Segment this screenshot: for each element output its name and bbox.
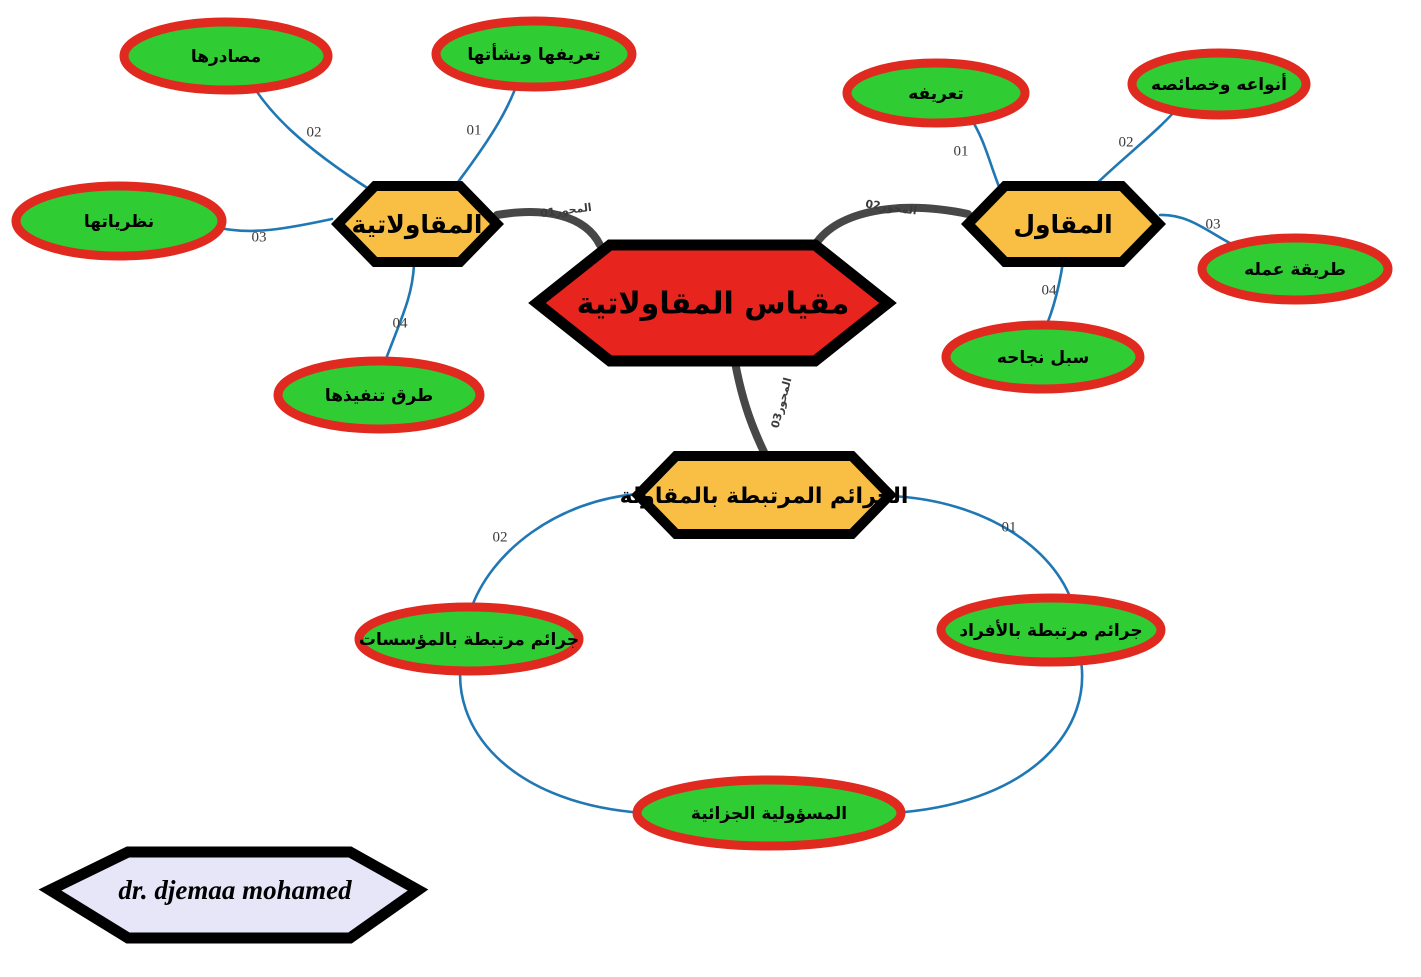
leaf-label: طريقة عمله xyxy=(1244,260,1346,280)
branch-node-1[interactable]: المقاولاتية xyxy=(338,186,497,262)
leaf-node-b2-02[interactable]: أنواعه وخصائصه xyxy=(1132,53,1306,115)
mindmap-canvas: المحور01 المحور02 المحور03 01 02 03 04 0… xyxy=(0,0,1421,977)
leaf-num-b2-02: 02 xyxy=(1119,134,1134,150)
leaf-label: طرق تنفيذها xyxy=(325,386,433,406)
leaf-num-b2-03: 03 xyxy=(1206,216,1221,232)
leaf-node-b1-01[interactable]: تعريفها ونشأتها xyxy=(436,21,632,87)
leaf-label: نظرياتها xyxy=(84,212,154,232)
leaf-node-b3-02[interactable]: جرائم مرتبطة بالمؤسسات xyxy=(359,607,579,671)
leaf-label: المسؤولية الجزائية xyxy=(691,804,847,824)
leaf-label: مصادرها xyxy=(191,47,261,67)
leaf-num-b3-02: 02 xyxy=(493,529,508,545)
leaf-label: سبل نجاحه xyxy=(997,348,1089,368)
leaf-edge-b1-01 xyxy=(452,75,520,190)
author-node[interactable]: dr. djemaa mohamed xyxy=(50,852,418,938)
leaf-num-b2-04: 04 xyxy=(1042,282,1058,298)
leaf-node-b2-01[interactable]: تعريفه xyxy=(847,63,1025,123)
leaf-edge-b1-03 xyxy=(216,219,332,231)
author-label: dr. djemaa mohamed xyxy=(118,875,352,905)
leaf-edge-b2-01 xyxy=(970,117,1000,189)
center-node[interactable]: مقياس المقاولاتية xyxy=(537,245,888,361)
center-label: مقياس المقاولاتية xyxy=(577,287,850,322)
branch-label: الجرائم المرتبطة بالمقاولة xyxy=(620,484,909,509)
leaf-num-b1-03: 03 xyxy=(252,229,267,245)
trunk-label-branch-3: المحور03 xyxy=(769,376,795,429)
leaf-label: تعريفها ونشأتها xyxy=(467,43,600,65)
leaf-label: تعريفه xyxy=(908,84,963,104)
leaf-node-b3-01[interactable]: جرائم مرتبطة بالأفراد xyxy=(941,598,1161,662)
leaf-node-b3-03[interactable]: المسؤولية الجزائية xyxy=(637,780,901,846)
leaf-label: جرائم مرتبطة بالمؤسسات xyxy=(359,630,579,650)
leaf-edge-b3-02 xyxy=(470,494,638,612)
branch-node-2[interactable]: المقاول xyxy=(968,186,1159,262)
leaf-edge-b3-loop-right xyxy=(905,655,1082,812)
branch-label: المقاول xyxy=(1013,210,1112,240)
leaf-num-b1-02: 02 xyxy=(307,124,322,140)
leaf-edge-b3-loop-left xyxy=(460,655,632,812)
leaf-num-b2-01: 01 xyxy=(954,143,969,159)
leaf-node-b2-04[interactable]: سبل نجاحه xyxy=(946,325,1140,389)
branch-label: المقاولاتية xyxy=(351,210,482,240)
leaf-num-b1-04: 04 xyxy=(393,315,409,331)
leaf-num-b1-01: 01 xyxy=(467,122,482,138)
leaf-node-b2-03[interactable]: طريقة عمله xyxy=(1202,238,1388,300)
leaf-node-b1-04[interactable]: طرق تنفيذها xyxy=(278,361,480,429)
leaf-num-b3-01: 01 xyxy=(1002,519,1017,535)
leaf-label: أنواعه وخصائصه xyxy=(1151,73,1287,95)
leaf-node-b1-03[interactable]: نظرياتها xyxy=(16,186,222,256)
leaf-label: جرائم مرتبطة بالأفراد xyxy=(959,620,1142,641)
leaf-edge-b2-02 xyxy=(1090,105,1180,190)
leaf-node-b1-02[interactable]: مصادرها xyxy=(124,22,328,90)
branch-node-3[interactable]: الجرائم المرتبطة بالمقاولة xyxy=(620,456,909,534)
